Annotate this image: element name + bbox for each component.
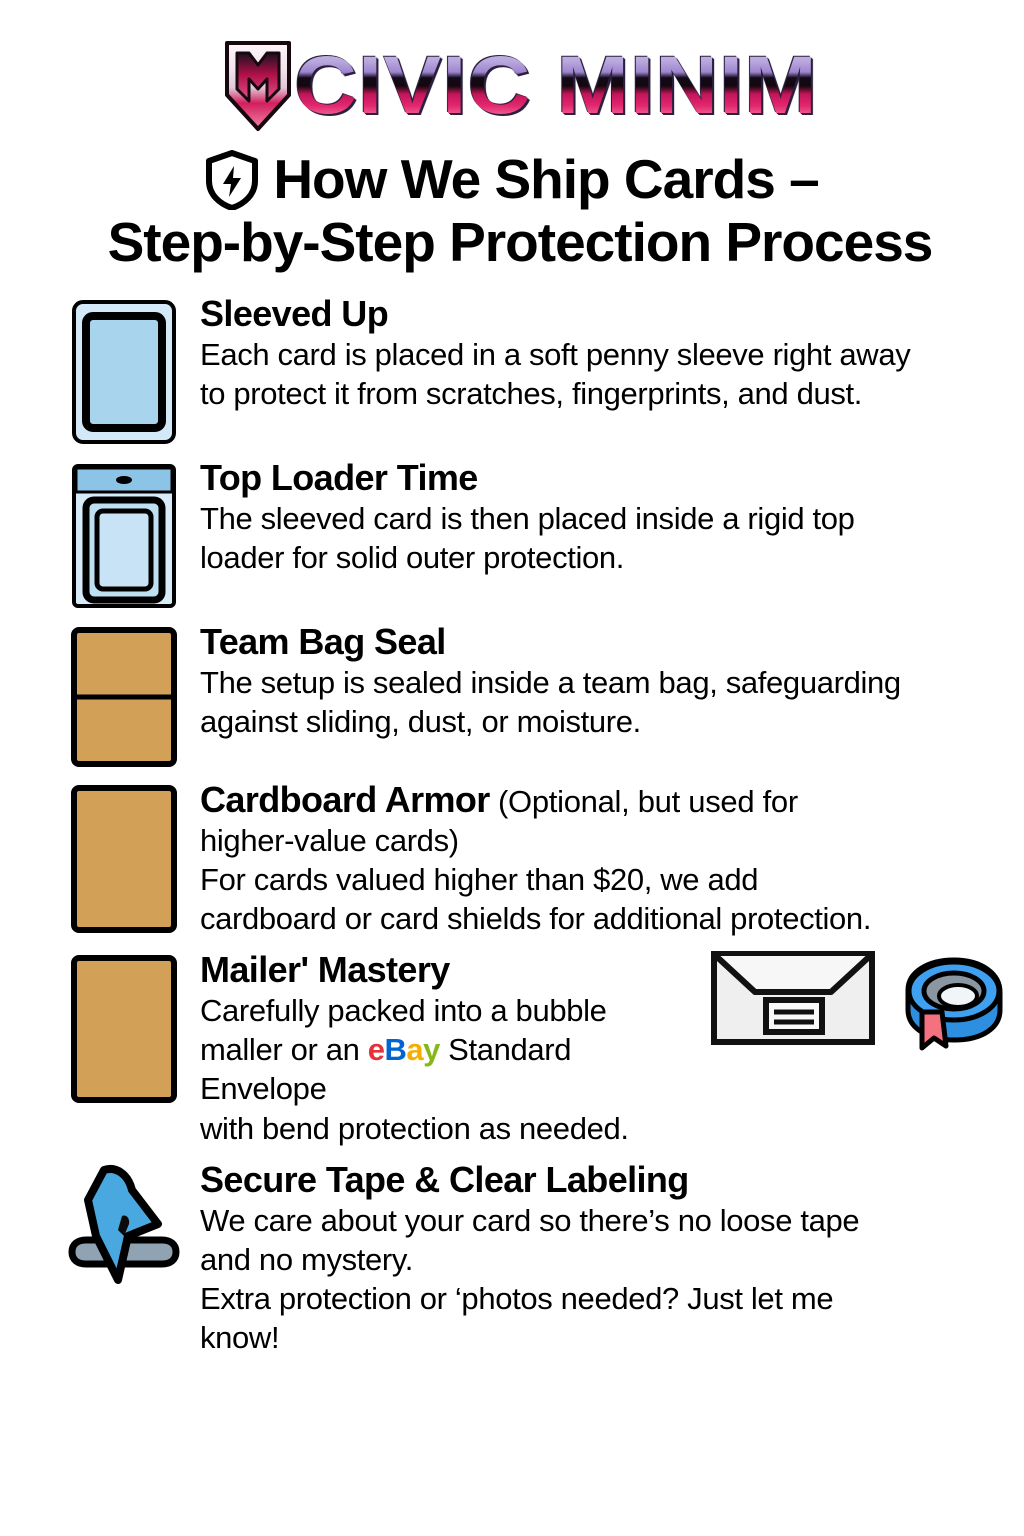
step-title: Top Loader Time xyxy=(200,458,1000,498)
page-title-line-2: Step-by-Step Protection Process xyxy=(40,212,984,274)
steps-list: Sleeved Up Each card is placed in a soft… xyxy=(0,292,1024,1357)
civic-minim-monogram-icon xyxy=(221,39,295,133)
tape-roll-icon xyxy=(898,950,1006,1052)
team-bag-icon xyxy=(66,620,182,768)
mailer-side-icons xyxy=(710,950,1006,1052)
step-description: We care about your card so there’s no lo… xyxy=(200,1201,1000,1357)
brand-wordmark: CIVIC MINIM xyxy=(294,45,818,127)
step-item: Top Loader Time The sleeved card is then… xyxy=(0,456,1024,610)
step-description: The sleeved card is then placed inside a… xyxy=(200,499,1000,577)
step-title: Mailerʹ Mastery xyxy=(200,950,700,990)
cardboard-shield-icon xyxy=(66,778,182,934)
marker-pen-icon xyxy=(66,1158,182,1290)
page-title-block: How We Ship Cards – Step-by-Step Protect… xyxy=(0,150,1024,274)
step-item: Secure Tape & Clear Labeling We care abo… xyxy=(0,1158,1024,1358)
step-title-suffix: (Optional, but used for xyxy=(490,784,798,819)
penny-sleeve-card-icon xyxy=(66,292,182,446)
step-item: Cardboard Armor (Optional, but used for … xyxy=(0,778,1024,938)
step-description: Each card is placed in a soft penny slee… xyxy=(200,335,1000,413)
top-loader-card-icon xyxy=(66,456,182,610)
step-description: The setup is sealed inside a team bag, s… xyxy=(200,663,1000,741)
step-item: Sleeved Up Each card is placed in a soft… xyxy=(0,292,1024,446)
envelope-icon xyxy=(710,950,876,1046)
step-title: Cardboard Armor (Optional, but used for xyxy=(200,780,1000,820)
brand-header: CIVIC MINIM xyxy=(0,0,1024,134)
step-description-line-ebay: maller or an eBay Standard Envelope xyxy=(200,1030,700,1108)
step-item: Mailerʹ Mastery Carefully packed into a … xyxy=(0,948,1024,1148)
step-description: higher-value cards) For cards valued hig… xyxy=(200,821,1000,938)
ebay-wordmark: eBay xyxy=(368,1032,440,1067)
shield-bolt-icon xyxy=(205,150,259,210)
step-title: Secure Tape & Clear Labeling xyxy=(200,1160,1000,1200)
step-description: Carefully packed into a bubble maller or… xyxy=(200,991,700,1147)
page-title-line-1: How We Ship Cards – xyxy=(273,150,818,209)
bubble-mailer-icon xyxy=(66,948,182,1104)
step-title: Sleeved Up xyxy=(200,294,1000,334)
step-title: Team Bag Seal xyxy=(200,622,1000,662)
step-item: Team Bag Seal The setup is sealed inside… xyxy=(0,620,1024,768)
